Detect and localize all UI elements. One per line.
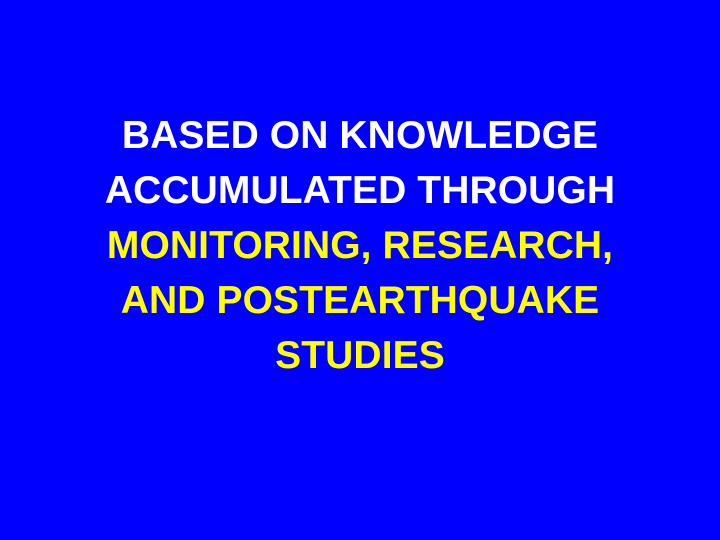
slide-line-4: AND POSTEARTHQUAKE: [0, 273, 720, 328]
slide-line-5: STUDIES: [0, 328, 720, 383]
slide-line-3: MONITORING, RESEARCH,: [0, 218, 720, 273]
slide-line-1: BASED ON KNOWLEDGE: [0, 108, 720, 163]
slide-line-2: ACCUMULATED THROUGH: [0, 163, 720, 218]
presentation-slide: BASED ON KNOWLEDGE ACCUMULATED THROUGH M…: [0, 0, 720, 540]
slide-body-text: BASED ON KNOWLEDGE ACCUMULATED THROUGH M…: [0, 108, 720, 383]
